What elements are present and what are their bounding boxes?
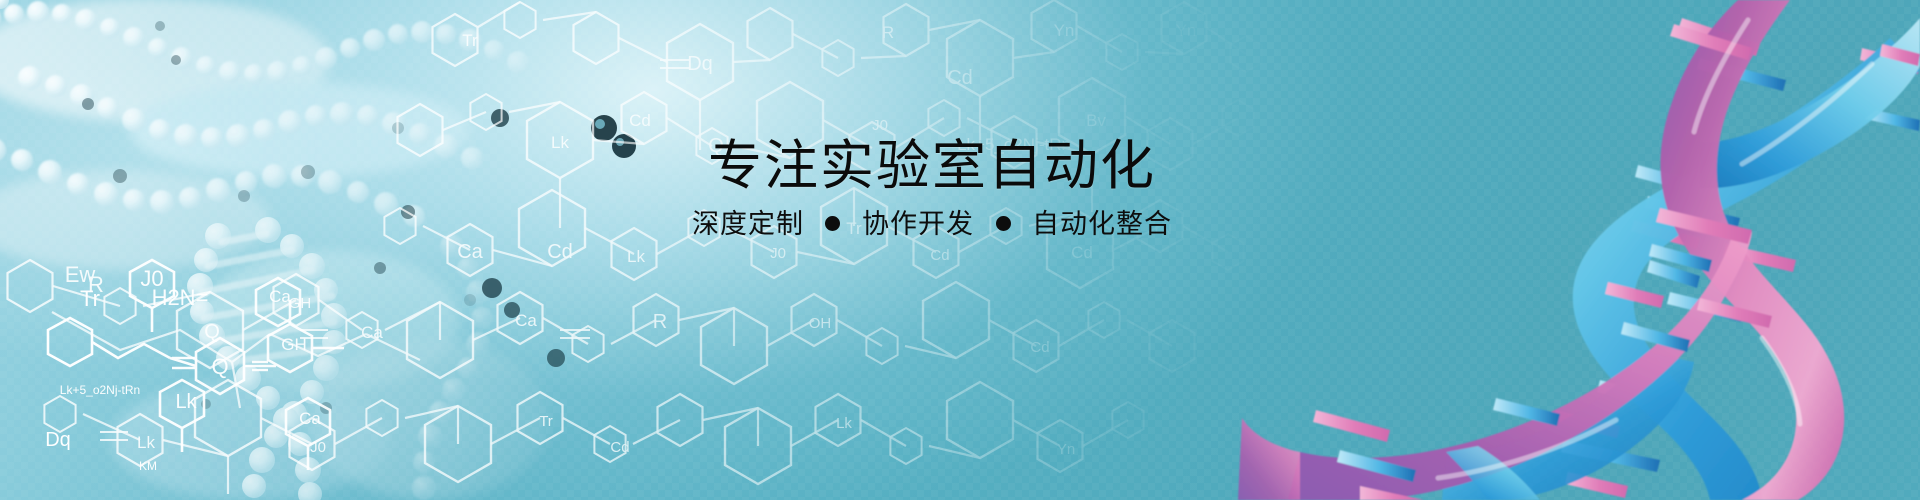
banner-text-block: 专注实验室自动化 深度定制 协作开发 自动化整合 [612,138,1252,240]
subtitle-segment-2: 协作开发 [862,210,974,240]
banner-subtitle: 深度定制 协作开发 自动化整合 [612,209,1252,240]
background-texture [0,0,1920,500]
bullet-dot-icon [996,216,1011,231]
subtitle-segment-3: 自动化整合 [1032,210,1172,240]
bullet-dot-icon [825,216,840,231]
hero-banner: Tr Dq Cd R Yn Yn Q Lk Cd J0 Bv Lk+5_o2Nj… [0,0,1920,500]
subtitle-segment-1: 深度定制 [692,210,804,240]
page-title: 专注实验室自动化 [612,138,1252,195]
